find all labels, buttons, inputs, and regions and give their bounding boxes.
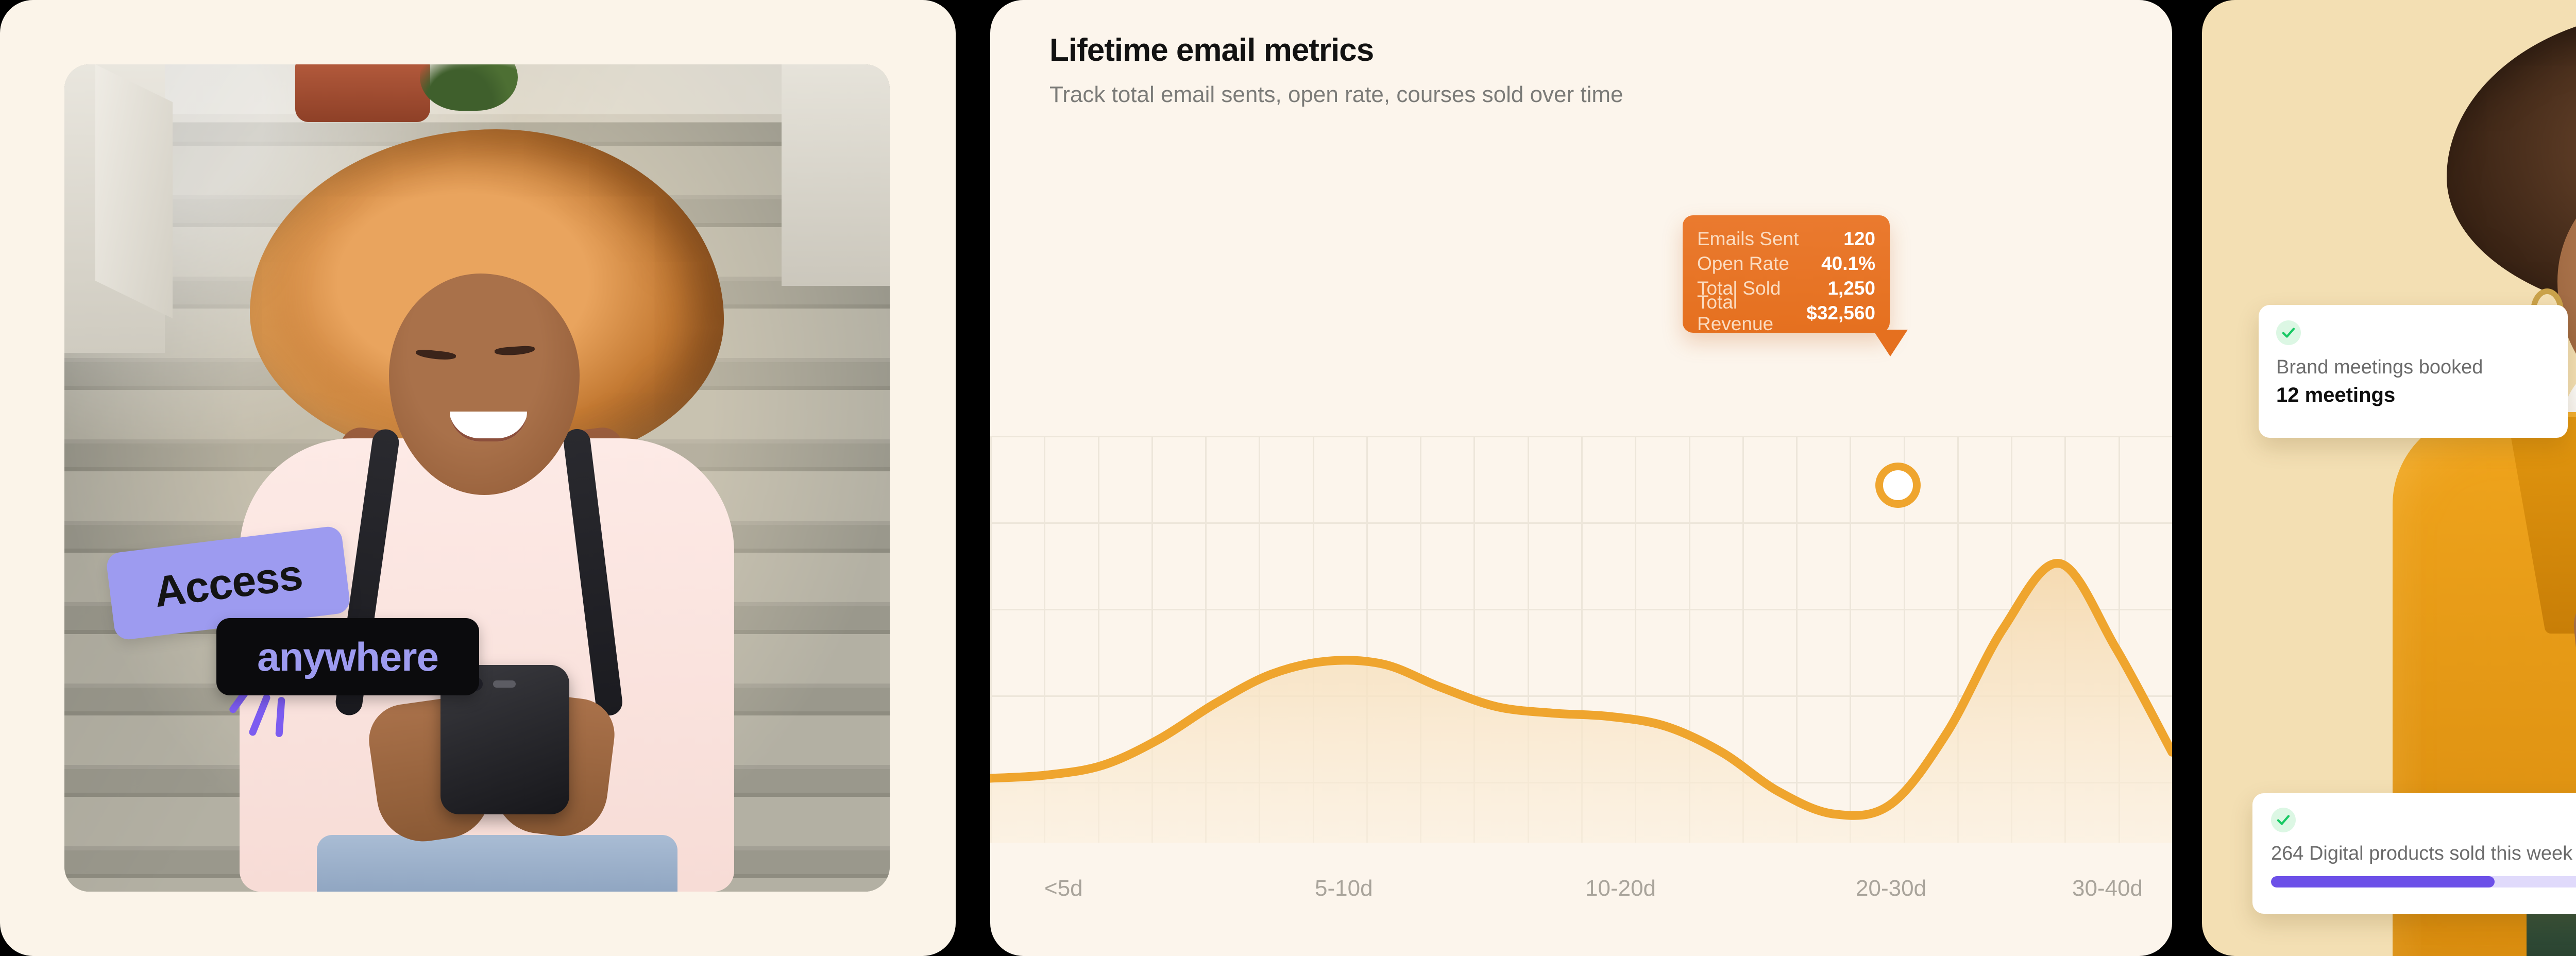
card-label: Brand meetings booked <box>2276 356 2550 379</box>
badge-anywhere: anywhere <box>216 618 479 695</box>
x-axis-tick-label: <5d <box>1044 876 1083 901</box>
photo-girl-on-stairs: Access anywhere <box>64 64 890 892</box>
tooltip-value: 1,250 <box>1827 278 1875 299</box>
chart-series-courses-sold <box>990 436 2172 843</box>
panel-creator-dashboard: Brand meetings booked 12 meetings Reply … <box>2202 0 2576 956</box>
tooltip-pointer <box>1873 330 1908 356</box>
badge-anywhere-label: anywhere <box>257 634 438 680</box>
promo-screenshot: Access anywhere Lifetime email metrics T… <box>0 0 2576 956</box>
chart-highlight-marker[interactable] <box>1875 463 1921 508</box>
x-axis-tick-label: 20-30d <box>1856 876 1926 901</box>
chart-tooltip: Emails Sent 120 Open Rate 40.1% Total So… <box>1683 215 1890 333</box>
tooltip-key: Emails Sent <box>1697 228 1799 250</box>
tooltip-row: Total Revenue $32,560 <box>1697 301 1875 326</box>
plant-pot <box>295 64 430 122</box>
hair <box>2447 10 2576 319</box>
page-title: Lifetime email metrics <box>1049 32 2028 69</box>
progress-bar-fill <box>2271 876 2495 887</box>
tooltip-row: Open Rate 40.1% <box>1697 251 1875 276</box>
card-label: 264 Digital products sold this week <box>2271 843 2576 865</box>
smile <box>450 412 527 441</box>
card-brand-meetings[interactable]: Brand meetings booked 12 meetings <box>2259 305 2568 438</box>
chart-header: Lifetime email metrics Track total email… <box>1049 32 2028 108</box>
chart-x-axis: <5d5-10d10-20d20-30d30-40d <box>990 876 2172 922</box>
person-figure <box>219 119 755 892</box>
x-axis-tick-label: 10-20d <box>1585 876 1656 901</box>
x-axis-tick-label: 30-40d <box>2072 876 2143 901</box>
chart-plot-area <box>990 436 2172 843</box>
tooltip-value: $32,560 <box>1806 302 1875 324</box>
card-digital-products-sold[interactable]: 264 Digital products sold this week <box>2252 793 2576 914</box>
page-subtitle: Track total email sents, open rate, cour… <box>1049 82 2028 108</box>
check-icon <box>2276 320 2301 345</box>
check-icon <box>2271 808 2296 832</box>
tooltip-value: 40.1% <box>1821 253 1875 275</box>
progress-bar <box>2271 876 2576 887</box>
tooltip-key: Open Rate <box>1697 253 1789 275</box>
panel-lifetime-email-metrics: Lifetime email metrics Track total email… <box>990 0 2172 956</box>
tooltip-key: Total Revenue <box>1697 292 1806 335</box>
card-value: 12 meetings <box>2276 384 2550 407</box>
x-axis-tick-label: 5-10d <box>1315 876 1373 901</box>
jeans <box>317 835 677 892</box>
tooltip-row: Emails Sent 120 <box>1697 227 1875 251</box>
eye-left <box>415 349 456 361</box>
wall-right <box>782 64 890 286</box>
badge-access-label: Access <box>151 549 305 617</box>
stair-railing <box>95 64 173 318</box>
panel-access-anywhere: Access anywhere <box>0 0 956 956</box>
eye-right <box>495 345 535 356</box>
tooltip-value: 120 <box>1843 228 1875 250</box>
